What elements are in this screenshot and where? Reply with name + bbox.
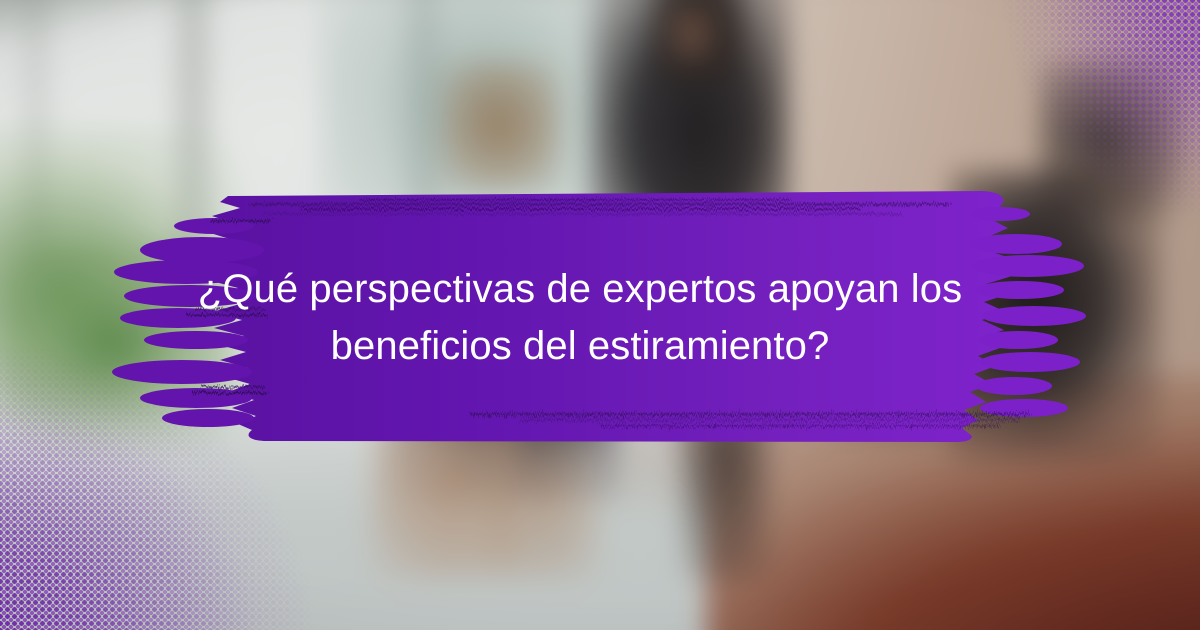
headline-line-1: ¿Qué perspectivas de expertos apoyan los [198,261,962,318]
hero-card: ¿Qué perspectivas de expertos apoyan los… [0,0,1200,630]
page-title: ¿Qué perspectivas de expertos apoyan los… [150,195,1010,441]
headline-line-2: beneficios del estiramiento? [331,318,830,375]
